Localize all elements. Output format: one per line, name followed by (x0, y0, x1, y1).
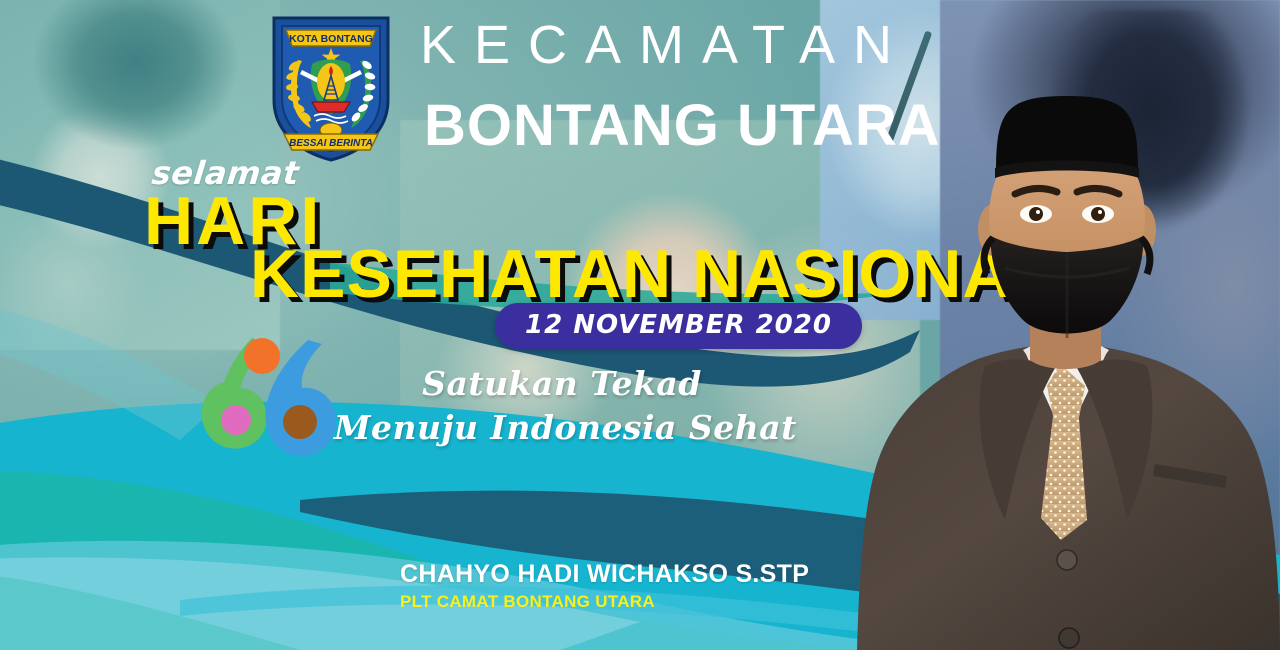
kota-bontang-crest: KOTA BONTANG (266, 8, 396, 163)
banner-root: KOTA BONTANG (0, 0, 1280, 650)
suit-button-lower (1059, 628, 1079, 648)
hkn-brown-dot (283, 405, 317, 439)
tagline-line-1: Satukan Tekad (352, 362, 772, 406)
hkn-pink-dot (221, 405, 251, 435)
signature-name: CHAHYO HADI WICHAKSO S.STP (400, 560, 809, 589)
date-badge: 12 NOVEMBER 2020 (495, 303, 862, 349)
person-photo-camat (855, 0, 1280, 650)
crest-bottom-label: BESSAI BERINTA (289, 138, 373, 149)
date-label: 12 NOVEMBER 2020 (525, 310, 832, 340)
suit-button-upper (1057, 550, 1077, 570)
pupil-left (1029, 207, 1043, 221)
tagline-line-2: Menuju Indonesia Sehat (334, 406, 772, 450)
hkn-orange-dot (244, 338, 280, 374)
hkn-56-logo (196, 330, 346, 465)
crest-boat (312, 102, 350, 112)
mask-loop-right (1141, 238, 1150, 274)
signature-position: PLT CAMAT BONTANG UTARA (400, 592, 809, 612)
mask-loop-left (984, 238, 993, 274)
header-kecamatan: KECAMATAN (420, 14, 910, 76)
signature-block: CHAHYO HADI WICHAKSO S.STP PLT CAMAT BON… (400, 560, 809, 612)
tagline: Satukan Tekad Menuju Indonesia Sehat (352, 362, 772, 450)
crest-top-label: KOTA BONTANG (289, 33, 373, 45)
pupil-right (1091, 207, 1105, 221)
